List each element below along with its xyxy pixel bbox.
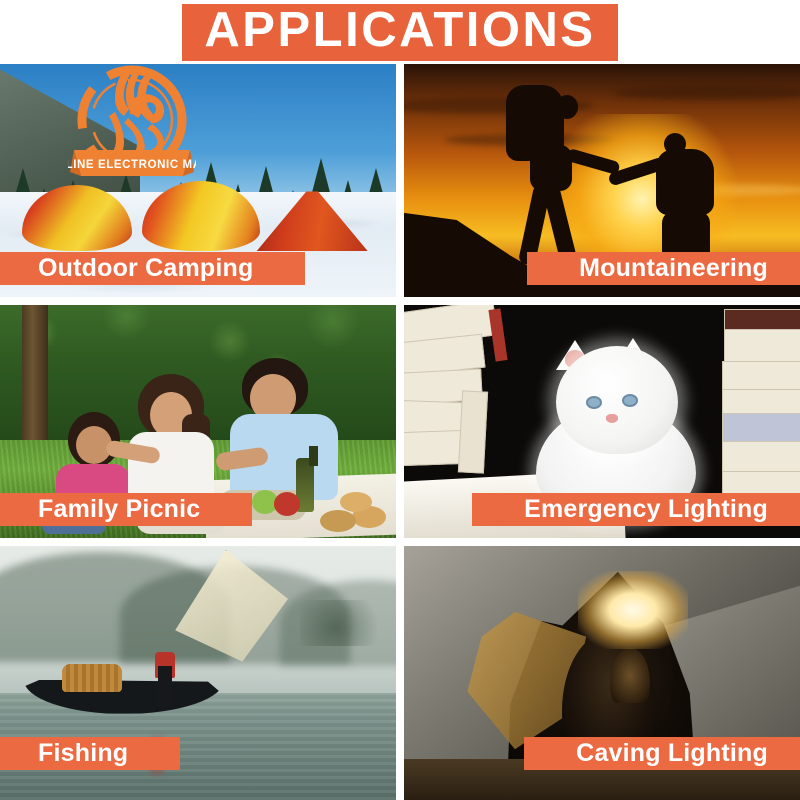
brand-logo: ONLINE ELECTRONIC MALL bbox=[68, 64, 196, 188]
panel-caption-emergency-lighting: Emergency Lighting bbox=[472, 493, 800, 526]
applications-grid: ONLINE ELECTRONIC MALL Outdoor Camping bbox=[0, 64, 800, 800]
page-title: APPLICATIONS bbox=[204, 6, 595, 55]
panel-caption-fishing: Fishing bbox=[0, 737, 180, 770]
panel-outdoor-camping[interactable]: ONLINE ELECTRONIC MALL Outdoor Camping bbox=[0, 64, 396, 297]
panel-caption-caving-lighting: Caving Lighting bbox=[524, 737, 800, 770]
panel-caption-outdoor-camping: Outdoor Camping bbox=[0, 252, 305, 285]
panel-family-picnic[interactable]: Family Picnic bbox=[0, 305, 396, 538]
panel-caption-family-picnic: Family Picnic bbox=[0, 493, 252, 526]
page-header: APPLICATIONS bbox=[0, 0, 800, 64]
panel-emergency-lighting[interactable]: Emergency Lighting bbox=[404, 305, 800, 538]
panel-caption-mountaineering: Mountaineering bbox=[527, 252, 800, 285]
panel-caving-lighting[interactable]: Caving Lighting bbox=[404, 546, 800, 800]
header-banner: APPLICATIONS bbox=[182, 4, 617, 61]
brand-logo-text: ONLINE ELECTRONIC MALL bbox=[68, 159, 196, 171]
horse-head-icon bbox=[109, 70, 164, 162]
panel-fishing[interactable]: Fishing bbox=[0, 546, 396, 800]
applications-poster: APPLICATIONS bbox=[0, 0, 800, 800]
panel-mountaineering[interactable]: Mountaineering bbox=[404, 64, 800, 297]
